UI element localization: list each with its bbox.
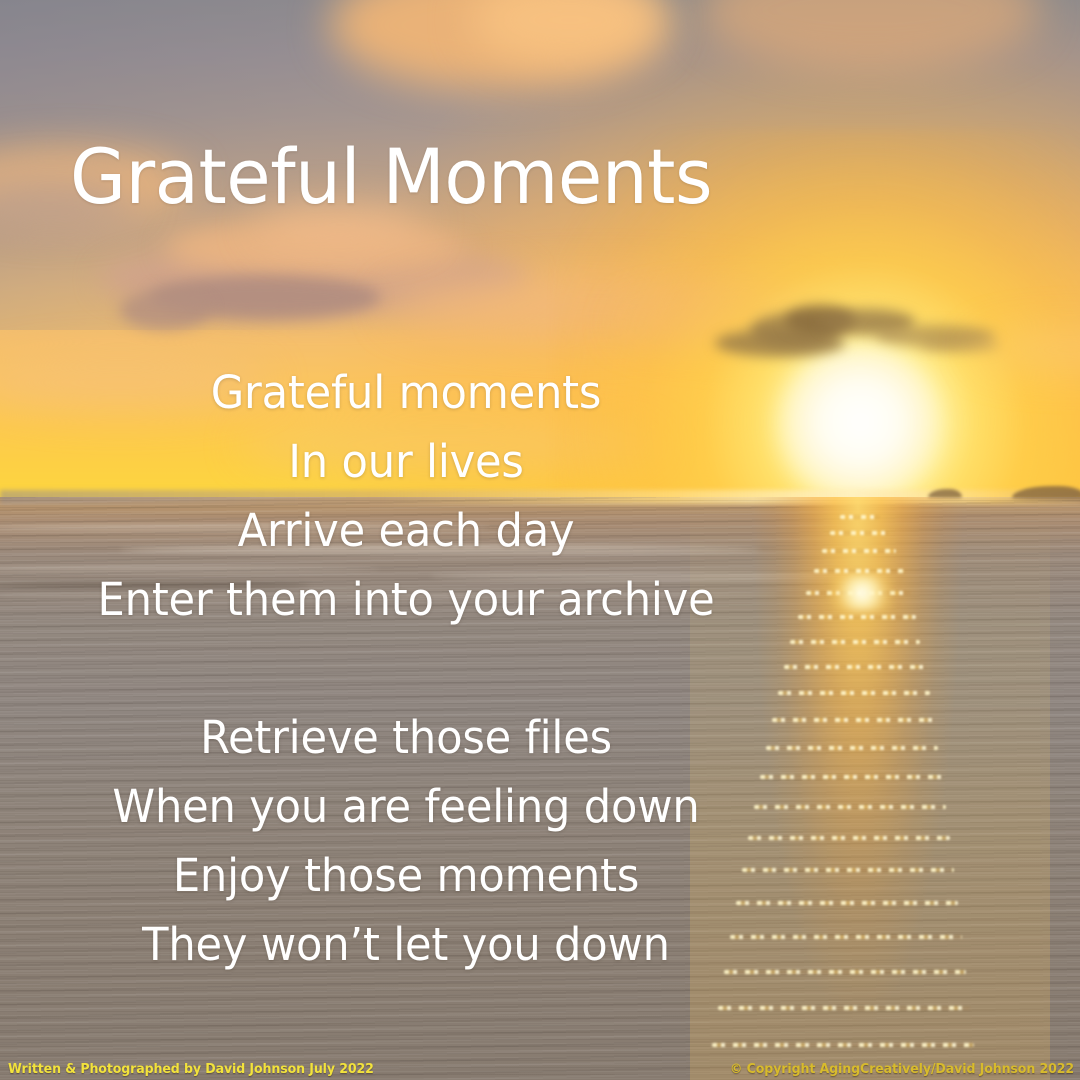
author-credit: Written & Photographed by David Johnson … [8, 1061, 374, 1077]
poem-line: Enter them into your archive [16, 565, 796, 634]
sun-reflection-hotspot [832, 575, 892, 611]
poem-line: Grateful moments [16, 358, 796, 427]
cloud-over-sun [715, 307, 985, 359]
poster-canvas: Grateful Moments Grateful moments In our… [0, 0, 1080, 1080]
page-title: Grateful Moments [70, 139, 712, 215]
poem-line: When you are feeling down [16, 772, 796, 841]
poem-line: Retrieve those files [16, 703, 796, 772]
poem-body: Grateful moments In our lives Arrive eac… [0, 358, 812, 979]
poem-line: They won’t let you down [16, 910, 796, 979]
poem-line: Enjoy those moments [16, 841, 796, 910]
copyright-notice: © Copyright AgingCreatively/David Johnso… [730, 1061, 1074, 1077]
poem-line: In our lives [16, 427, 796, 496]
stanza-break [0, 634, 812, 703]
poem-line: Arrive each day [16, 496, 796, 565]
